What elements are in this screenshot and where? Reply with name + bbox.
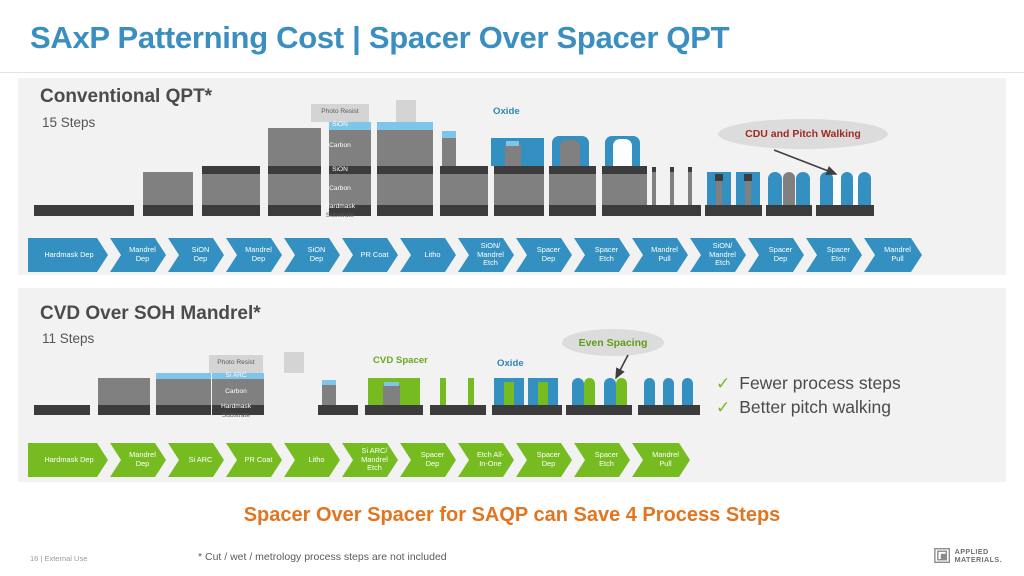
layer-label-carbon-2: Carbon [311, 185, 369, 192]
flow2-step-pr-coat[interactable]: PR Coat [226, 443, 282, 477]
flow2-step-mandrel-pull[interactable]: MandrelPull [632, 443, 690, 477]
flow-step-sion-dep-1[interactable]: SiONDep [168, 238, 224, 272]
flow2-step-spacer-dep-2[interactable]: SpacerDep [516, 443, 572, 477]
title-divider [0, 72, 1024, 73]
flow2-step-etch-all-in-one[interactable]: Etch All-In-One [458, 443, 514, 477]
flow-step-mandrel-dep-2[interactable]: MandrelDep [226, 238, 282, 272]
flow-step-mandrel-pull-2[interactable]: MandrelPull [864, 238, 922, 272]
flow2-step-spacer-dep-1[interactable]: SpacerDep [400, 443, 456, 477]
flow-step-mandrel-dep-1[interactable]: MandrelDep [110, 238, 166, 272]
flow-step-spacer-dep-2[interactable]: SpacerDep [748, 238, 804, 272]
layer-label-photo-resist: Photo Resist [311, 108, 369, 115]
layer-label-sion-2: SiON [311, 166, 369, 173]
material-label-oxide-top: Oxide [493, 106, 520, 117]
flow-step-hardmask-dep[interactable]: Hardmask Dep [28, 238, 108, 272]
check-icon: ✓ [716, 399, 730, 416]
callout-cdu-pitch-walking: CDU and Pitch Walking [718, 119, 888, 149]
material-label-oxide-bottom: Oxide [497, 358, 524, 369]
callout-arrow-top [770, 146, 850, 182]
applied-materials-wordmark: APPLIED MATERIALS. [955, 548, 1002, 564]
conventional-qpt-flow: Hardmask Dep MandrelDep SiONDep MandrelD… [28, 238, 924, 272]
layer-label-si-arc: Si ARC [207, 372, 265, 379]
layer-label-photo-resist-2: Photo Resist [207, 359, 265, 366]
material-label-cvd-spacer: CVD Spacer [373, 355, 428, 366]
layer-label-substrate-2: Substrate [207, 412, 265, 419]
flow-step-spacer-etch-1[interactable]: SpacerEtch [574, 238, 630, 272]
applied-materials-mark-icon [934, 547, 951, 564]
list-item: ✓ Fewer process steps [716, 373, 901, 394]
layer-label-substrate: Substrate [311, 212, 369, 219]
flow-step-spacer-dep-1[interactable]: SpacerDep [516, 238, 572, 272]
layer-label-hardmask-2: Hardmask [207, 403, 265, 410]
benefit-text: Better pitch walking [739, 397, 891, 418]
benefit-text: Fewer process steps [739, 373, 900, 394]
benefits-list: ✓ Fewer process steps ✓ Better pitch wal… [716, 373, 901, 421]
flow2-step-mandrel-dep[interactable]: MandrelDep [110, 443, 166, 477]
flow-step-spacer-etch-2[interactable]: SpacerEtch [806, 238, 862, 272]
check-icon: ✓ [716, 375, 730, 392]
footer-page-number: 16 | External Use [30, 554, 87, 563]
conventional-qpt-heading: Conventional QPT* [40, 86, 212, 108]
summary-banner: Spacer Over Spacer for SAQP can Save 4 P… [0, 504, 1024, 527]
flow-step-litho[interactable]: Litho [400, 238, 456, 272]
page-title: SAxP Patterning Cost | Spacer Over Space… [30, 20, 729, 56]
applied-materials-logo: APPLIED MATERIALS. [934, 547, 1002, 564]
flow2-step-litho[interactable]: Litho [284, 443, 340, 477]
flow-step-mandrel-pull-1[interactable]: MandrelPull [632, 238, 688, 272]
flow2-step-si-arc[interactable]: Si ARC [168, 443, 224, 477]
layer-label-carbon-1: Carbon [311, 142, 369, 149]
flow2-step-hardmask-dep[interactable]: Hardmask Dep [28, 443, 108, 477]
callout-arrow-bottom [602, 352, 642, 386]
cvd-over-soh-heading: CVD Over SOH Mandrel* [40, 303, 261, 325]
layer-label-carbon-3: Carbon [207, 388, 265, 395]
flow2-step-spacer-etch[interactable]: SpacerEtch [574, 443, 630, 477]
flow2-step-si-arc-mandrel-etch[interactable]: Si ARC/MandrelEtch [342, 443, 398, 477]
list-item: ✓ Better pitch walking [716, 397, 901, 418]
layer-label-hardmask: Hardmask [311, 203, 369, 210]
flow-step-pr-coat[interactable]: PR Coat [342, 238, 398, 272]
flow-step-sion-dep-2[interactable]: SiONDep [284, 238, 340, 272]
slide-root: SAxP Patterning Cost | Spacer Over Space… [0, 0, 1024, 576]
cvd-over-soh-steps: 11 Steps [42, 331, 94, 346]
flow-step-sion-mandrel-etch-2[interactable]: SiON/MandrelEtch [690, 238, 746, 272]
layer-label-sion-1: SiON [311, 121, 369, 128]
footnote: * Cut / wet / metrology process steps ar… [198, 551, 447, 563]
flow-step-sion-mandrel-etch-1[interactable]: SiON/MandrelEtch [458, 238, 514, 272]
conventional-qpt-steps: 15 Steps [42, 115, 95, 130]
cvd-over-soh-flow: Hardmask Dep MandrelDep Si ARC PR Coat L… [28, 443, 692, 477]
